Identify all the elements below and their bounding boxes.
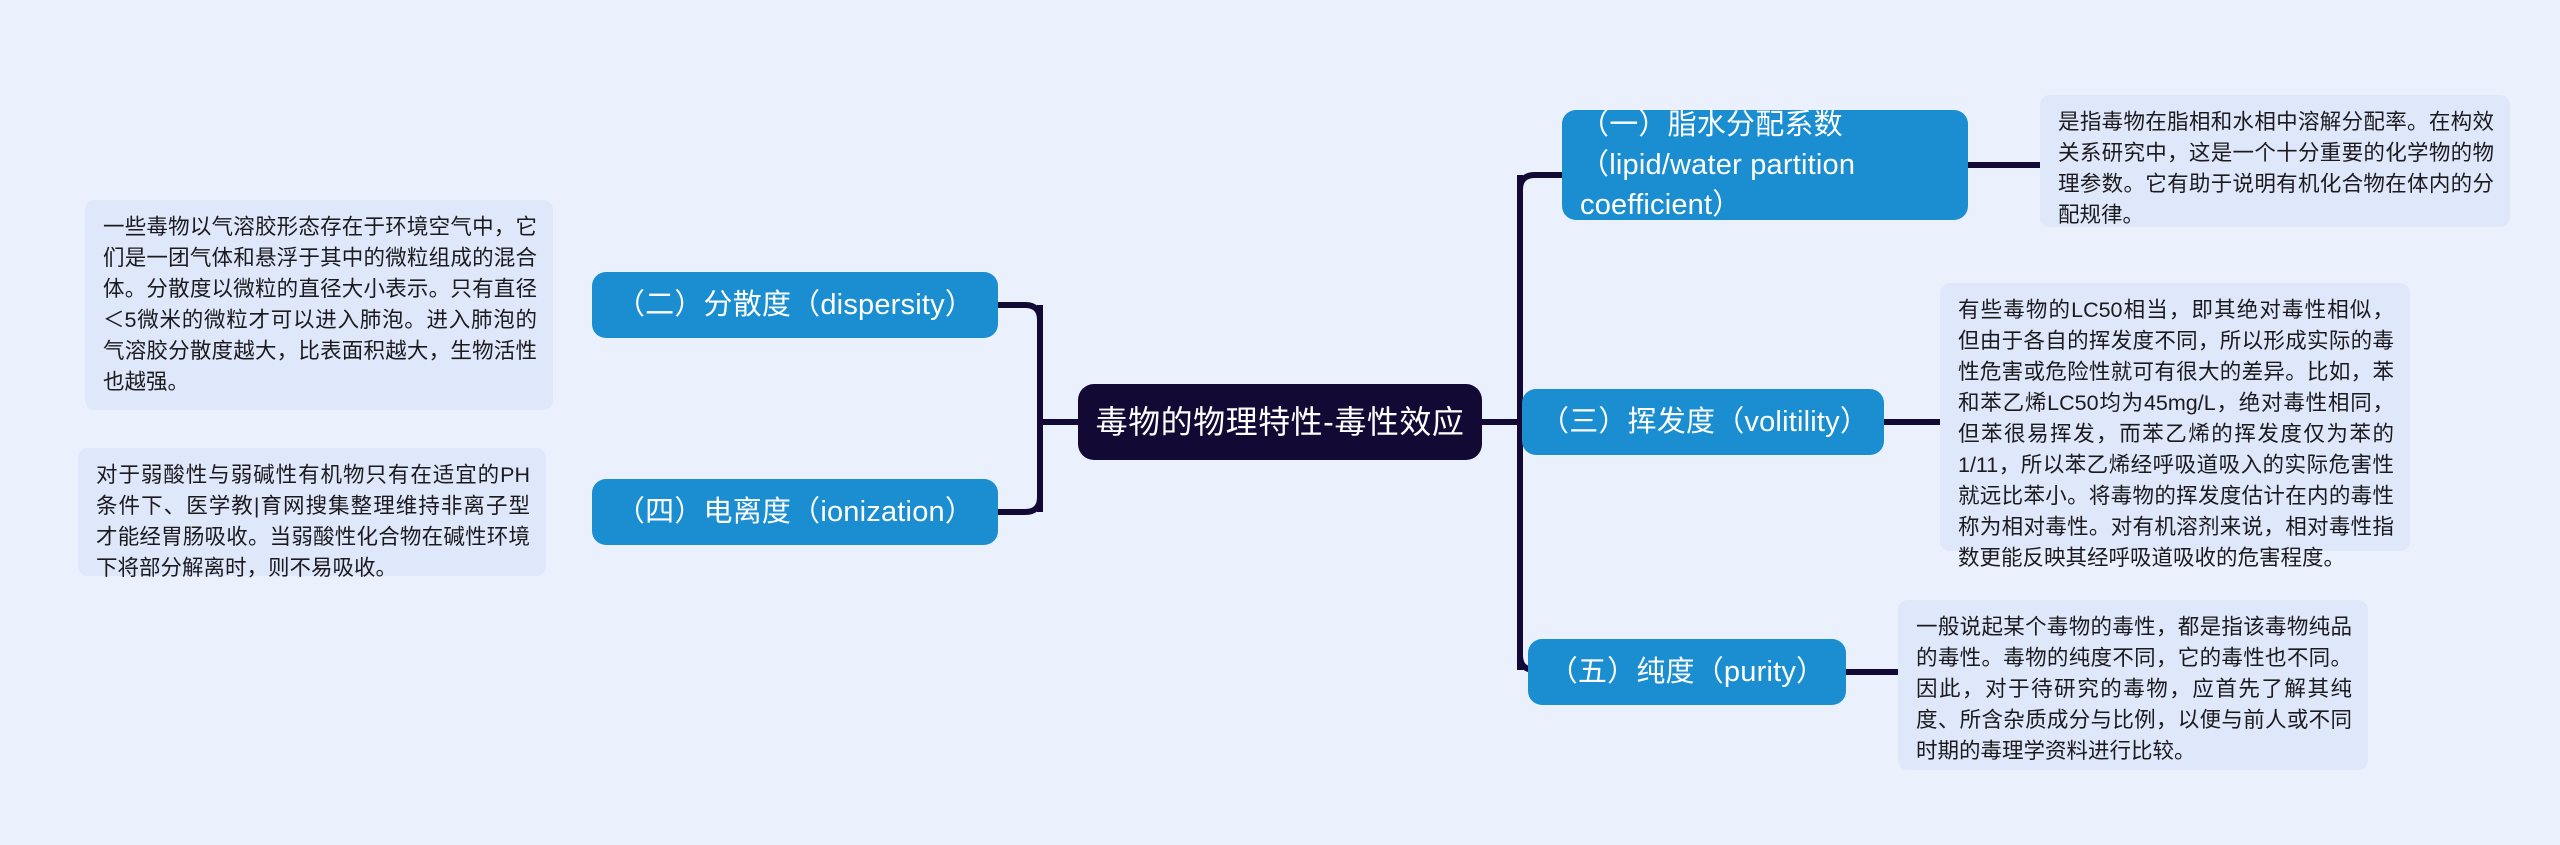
- description-lipid-water-partition-coefficient: 是指毒物在脂相和水相中溶解分配率。在构效关系研究中，这是一个十分重要的化学物的物…: [2040, 95, 2510, 227]
- description-ionization: 对于弱酸性与弱碱性有机物只有在适宜的PH条件下、医学教|育网搜集整理维持非离子型…: [78, 448, 546, 576]
- branch-node-volitility[interactable]: （三）挥发度（volitility）: [1522, 389, 1884, 455]
- branch-node-lipid-water-partition-coefficient[interactable]: （一）脂水分配系数（lipid/water partition coeffici…: [1562, 110, 1968, 220]
- center-node[interactable]: 毒物的物理特性-毒性效应: [1078, 384, 1482, 460]
- description-dispersity: 一些毒物以气溶胶形态存在于环境空气中，它们是一团气体和悬浮于其中的微粒组成的混合…: [85, 200, 553, 410]
- branch-node-purity[interactable]: （五）纯度（purity）: [1528, 639, 1846, 705]
- branch-node-dispersity[interactable]: （二）分散度（dispersity）: [592, 272, 998, 338]
- description-purity: 一般说起某个毒物的毒性，都是指该毒物纯品的毒性。毒物的纯度不同，它的毒性也不同。…: [1898, 600, 2368, 770]
- branch-node-ionization[interactable]: （四）电离度（ionization）: [592, 479, 998, 545]
- mindmap-canvas: 毒物的物理特性-毒性效应 （一）脂水分配系数（lipid/water parti…: [0, 0, 2560, 845]
- description-volitility: 有些毒物的LC50相当，即其绝对毒性相似，但由于各自的挥发度不同，所以形成实际的…: [1940, 283, 2410, 551]
